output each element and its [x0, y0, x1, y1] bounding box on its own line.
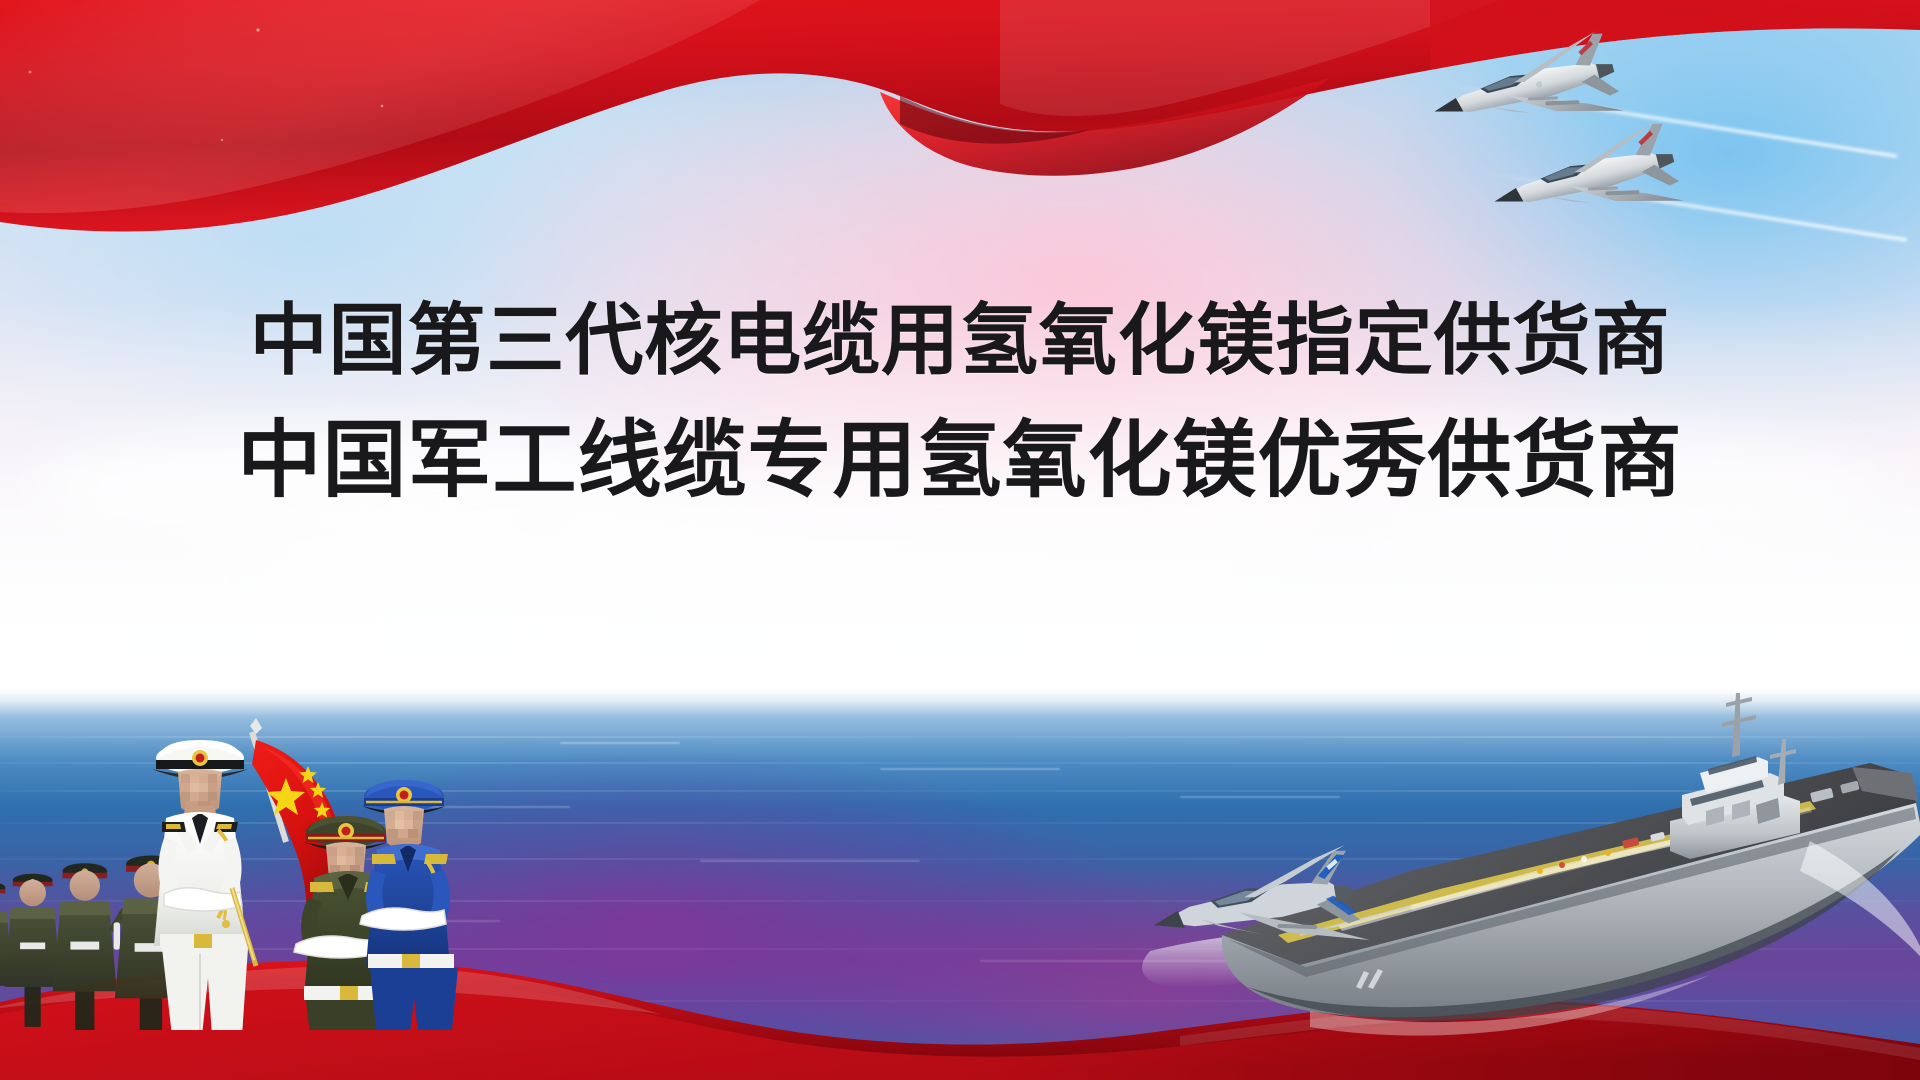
headline-line-1: 中国第三代核电缆用氢氧化镁指定供货商	[0, 292, 1920, 388]
poster-canvas: 中国第三代核电缆用氢氧化镁指定供货商 中国军工线缆专用氢氧化镁优秀供货商	[0, 0, 1920, 1080]
headline-line-2: 中国军工线缆专用氢氧化镁优秀供货商	[0, 408, 1920, 512]
honor-guard-formation-with-national-flag	[0, 560, 600, 1030]
headline-block: 中国第三代核电缆用氢氧化镁指定供货商 中国军工线缆专用氢氧化镁优秀供货商	[0, 292, 1920, 512]
aircraft-carrier-icon	[1110, 635, 1920, 1055]
